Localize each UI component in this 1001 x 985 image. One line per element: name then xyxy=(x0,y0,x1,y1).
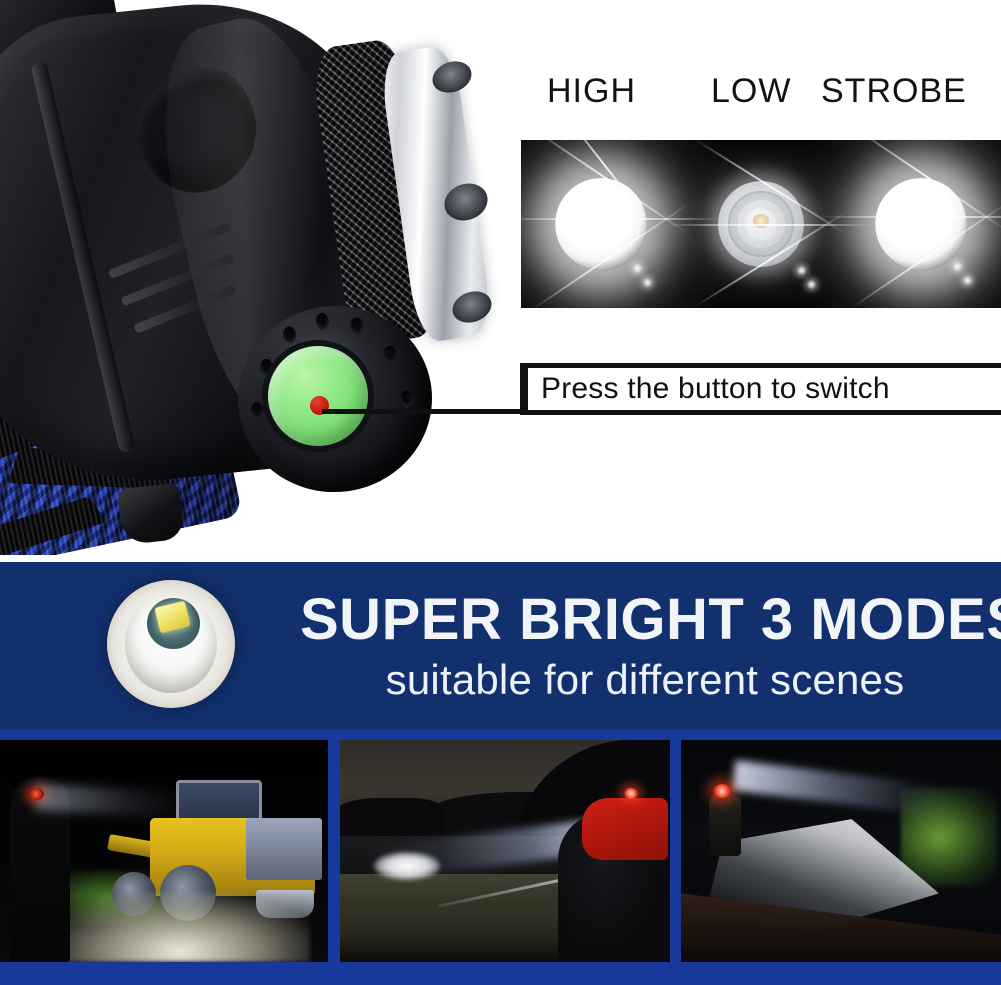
product-infographic: Press the button to switch HIGH LOW STRO… xyxy=(0,0,1001,985)
led-sparkle xyxy=(633,264,642,273)
callout-top-rule xyxy=(520,363,1001,368)
photo-night-construction-site xyxy=(0,740,328,962)
led-sparkle xyxy=(953,262,962,271)
led-cell-high xyxy=(521,140,681,308)
mode-label-strobe: STROBE xyxy=(821,72,967,111)
mode-label-row: HIGH LOW STROBE xyxy=(521,72,1001,124)
distant-treeline xyxy=(340,798,444,838)
top-section: Press the button to switch HIGH LOW STRO… xyxy=(0,0,1001,562)
housing-dimple xyxy=(282,326,297,344)
led-orb-strobe xyxy=(875,178,967,270)
illuminated-ground xyxy=(50,892,310,962)
led-sparkle xyxy=(807,280,816,289)
led-sparkle xyxy=(643,278,652,287)
housing-dimple xyxy=(383,345,398,363)
callout-bracket xyxy=(520,363,528,415)
red-jacket xyxy=(582,798,668,860)
banner-title: SUPER BRIGHT 3 MODES xyxy=(300,586,990,653)
lens-flare-ray xyxy=(821,216,1001,218)
led-sparkle xyxy=(797,266,806,275)
callout-text: Press the button to switch xyxy=(541,372,1001,406)
headlamp-product-photo xyxy=(0,0,520,555)
super-bright-banner: SUPER BRIGHT 3 MODES suitable for differ… xyxy=(0,562,1001,730)
housing-fold xyxy=(30,60,136,453)
housing-dimple xyxy=(315,312,330,330)
led-orb-high xyxy=(555,178,647,270)
callout-leader-line xyxy=(322,409,524,414)
loader-engine-block xyxy=(246,818,322,880)
led-sparkle xyxy=(963,276,972,285)
housing-dimple xyxy=(400,390,415,408)
headlamp-red-light xyxy=(28,788,44,800)
person-silhouette xyxy=(709,792,741,856)
photo-night-fishing xyxy=(340,740,670,962)
headlamp-red-light xyxy=(624,788,638,799)
housing-dimple xyxy=(350,317,365,335)
led-mode-demo-strip xyxy=(521,140,1001,308)
callout-bottom-rule xyxy=(520,410,1001,415)
photo-night-path xyxy=(681,740,1001,962)
led-cell-strobe xyxy=(841,140,1001,308)
mode-label-low: LOW xyxy=(711,72,791,111)
mode-label-high: HIGH xyxy=(547,72,636,111)
usage-photo-gallery xyxy=(0,730,1001,985)
beam-light-pool xyxy=(374,852,440,880)
headlamp-red-light xyxy=(713,784,731,798)
led-cell-low xyxy=(681,140,841,308)
led-emitter-icon xyxy=(107,580,235,708)
housing-dimple xyxy=(250,402,265,420)
banner-subtitle: suitable for different scenes xyxy=(300,656,990,704)
